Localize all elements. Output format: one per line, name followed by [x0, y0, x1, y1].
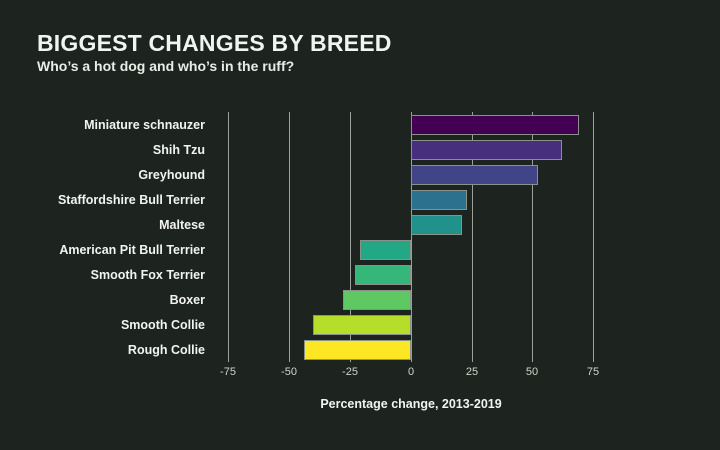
x-tick-label: -50 — [281, 366, 297, 378]
y-axis-label: Rough Collie — [128, 340, 205, 360]
bar-maltese — [411, 215, 462, 235]
y-axis-label: Staffordshire Bull Terrier — [58, 190, 205, 210]
y-axis-labels: Miniature schnauzer Shih Tzu Greyhound S… — [0, 0, 205, 450]
bar-smooth-collie — [313, 315, 411, 335]
y-axis-label: Greyhound — [138, 165, 205, 185]
x-tick-label: -25 — [342, 366, 358, 378]
x-tick-label: 75 — [587, 366, 599, 378]
y-axis-label: Boxer — [170, 290, 205, 310]
x-axis-title: Percentage change, 2013-2019 — [320, 397, 501, 411]
y-axis-label: Miniature schnauzer — [84, 115, 205, 135]
bar-rough-collie — [304, 340, 411, 360]
y-axis-label: Shih Tzu — [153, 140, 205, 160]
bar-smooth-fox-terrier — [355, 265, 411, 285]
y-axis-label: Smooth Fox Terrier — [91, 265, 205, 285]
x-tick-label: -75 — [220, 366, 236, 378]
bar-shih-tzu — [411, 140, 562, 160]
bar-staffordshire-bull-terrier — [411, 190, 467, 210]
gridline-75 — [593, 112, 594, 362]
bar-miniature-schnauzer — [411, 115, 579, 135]
chart-figure: BIGGEST CHANGES BY BREED Who’s a hot dog… — [0, 0, 720, 450]
y-axis-label: Maltese — [159, 215, 205, 235]
bar-boxer — [343, 290, 411, 310]
gridline-neg50 — [289, 112, 290, 362]
x-tick-label: 50 — [526, 366, 538, 378]
y-axis-label: American Pit Bull Terrier — [59, 240, 205, 260]
bar-american-pit-bull-terrier — [360, 240, 411, 260]
x-tick-label: 25 — [466, 366, 478, 378]
bar-greyhound — [411, 165, 538, 185]
gridline-neg75 — [228, 112, 229, 362]
x-tick-label: 0 — [408, 366, 414, 378]
y-axis-label: Smooth Collie — [121, 315, 205, 335]
plot-area: Miniature schnauzer Shih Tzu Greyhound S… — [0, 0, 720, 450]
